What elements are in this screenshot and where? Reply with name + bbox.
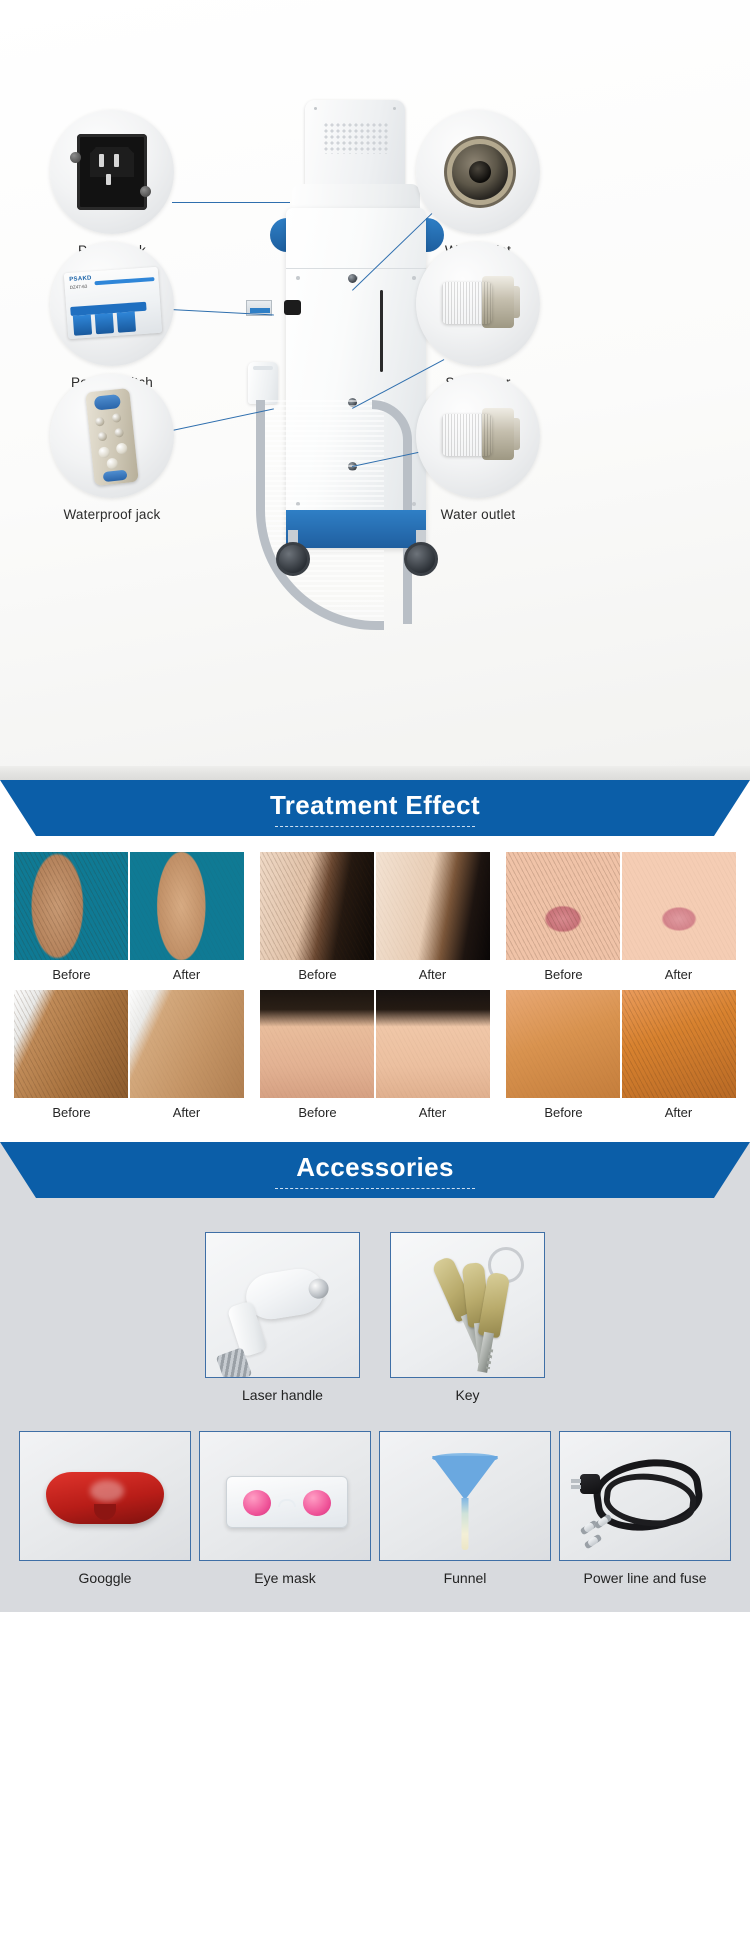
after-label: After xyxy=(621,1098,736,1124)
before-photo xyxy=(260,990,374,1098)
water-spill-fitting-icon xyxy=(416,242,540,366)
before-photo xyxy=(260,852,374,960)
waterproof-connector-icon xyxy=(50,374,174,498)
after-photo xyxy=(622,852,736,960)
accessories-banner: Accessories xyxy=(0,1142,750,1198)
accessories-row-primary: Laser handle Key xyxy=(0,1198,750,1403)
after-label: After xyxy=(375,1098,490,1124)
before-label: Before xyxy=(506,1098,621,1124)
before-after-case: Before After xyxy=(14,852,244,986)
caster-wheel-left xyxy=(276,542,310,576)
callout-label: Water outlet xyxy=(416,507,540,522)
accessory-card: Key xyxy=(390,1232,545,1403)
callout-spilt-water: Spilt water xyxy=(416,242,540,390)
caster-wheel-right xyxy=(404,542,438,576)
accessory-card: Power line and fuse xyxy=(559,1431,731,1586)
funnel-icon xyxy=(379,1431,551,1561)
power-jack-on-machine xyxy=(284,300,301,315)
banner-title: Accessories xyxy=(296,1152,454,1183)
before-after-case: Before After xyxy=(260,852,490,986)
accessory-card: Funnel xyxy=(379,1431,551,1586)
before-label: Before xyxy=(14,1098,129,1124)
water-outlet-fitting-icon xyxy=(416,374,540,498)
safety-goggles-icon xyxy=(19,1431,191,1561)
circuit-breaker-icon: PSAKD DZ47-63 xyxy=(50,242,174,366)
before-label: Before xyxy=(14,960,129,986)
callout-power-jack: Power jack xyxy=(50,110,174,258)
water-inlet-port-icon xyxy=(416,110,540,234)
eye-mask-icon xyxy=(199,1431,371,1561)
vent-grille xyxy=(323,122,389,154)
machine-vent-slot xyxy=(380,290,383,372)
accessory-label: Googgle xyxy=(19,1561,191,1586)
before-after-grid: Before After Before After xyxy=(0,836,750,1124)
accessories-row-secondary: Googgle Eye mask Funnel xyxy=(0,1403,750,1586)
after-photo xyxy=(376,852,490,960)
handpiece-illustration xyxy=(248,362,278,404)
accessory-card: Googgle xyxy=(19,1431,191,1586)
banner-underline xyxy=(275,826,475,827)
accessory-card: Eye mask xyxy=(199,1431,371,1586)
before-after-case: Before After xyxy=(260,990,490,1124)
leader-line-power-jack xyxy=(172,202,290,203)
callout-water-outlet: Water outlet xyxy=(416,374,540,522)
after-label: After xyxy=(129,1098,244,1124)
water-inlet-on-machine xyxy=(348,274,357,283)
after-label: After xyxy=(129,960,244,986)
callout-water-inlet: Water inlet xyxy=(416,110,540,258)
power-cord-fuse-icon xyxy=(559,1431,731,1561)
accessory-label: Power line and fuse xyxy=(559,1561,731,1586)
after-photo xyxy=(376,990,490,1098)
after-photo xyxy=(130,852,244,960)
callout-label: Waterproof jack xyxy=(50,507,174,522)
accessories-section: Accessories Laser handle xyxy=(0,1142,750,1612)
callout-waterproof-jack: Waterproof jack xyxy=(50,374,174,522)
machine-callout-diagram: Power jack PSAKD DZ47-63 Power switch xyxy=(0,0,750,780)
callout-power-switch: PSAKD DZ47-63 Power switch xyxy=(50,242,174,390)
treatment-effect-banner: Treatment Effect xyxy=(0,780,750,836)
treatment-effect-section: Treatment Effect Before After xyxy=(0,780,750,1142)
accessory-label: Funnel xyxy=(379,1561,551,1586)
before-after-case: Before After xyxy=(506,852,736,986)
banner-title: Treatment Effect xyxy=(270,790,480,821)
product-detail-page: Power jack PSAKD DZ47-63 Power switch xyxy=(0,0,750,1936)
accessory-label: Eye mask xyxy=(199,1561,371,1586)
before-label: Before xyxy=(506,960,621,986)
machine-display-panel xyxy=(305,100,405,188)
laser-handpiece-icon xyxy=(205,1232,360,1378)
keys-icon xyxy=(390,1232,545,1378)
after-photo xyxy=(130,990,244,1098)
before-after-case: Before After xyxy=(506,990,736,1124)
banner-underline xyxy=(275,1188,475,1189)
breaker-model: DZ47-63 xyxy=(70,284,88,290)
after-label: After xyxy=(621,960,736,986)
breaker-brand: PSAKD xyxy=(69,275,92,283)
accessory-label: Key xyxy=(390,1378,545,1403)
accessory-label: Laser handle xyxy=(205,1378,360,1403)
before-label: Before xyxy=(260,960,375,986)
before-photo xyxy=(506,852,620,960)
before-photo xyxy=(14,990,128,1098)
power-inlet-socket-icon xyxy=(50,110,174,234)
after-label: After xyxy=(375,960,490,986)
before-after-case: Before After xyxy=(14,990,244,1124)
after-photo xyxy=(622,990,736,1098)
before-photo xyxy=(14,852,128,960)
before-photo xyxy=(506,990,620,1098)
accessory-card: Laser handle xyxy=(205,1232,360,1403)
before-label: Before xyxy=(260,1098,375,1124)
